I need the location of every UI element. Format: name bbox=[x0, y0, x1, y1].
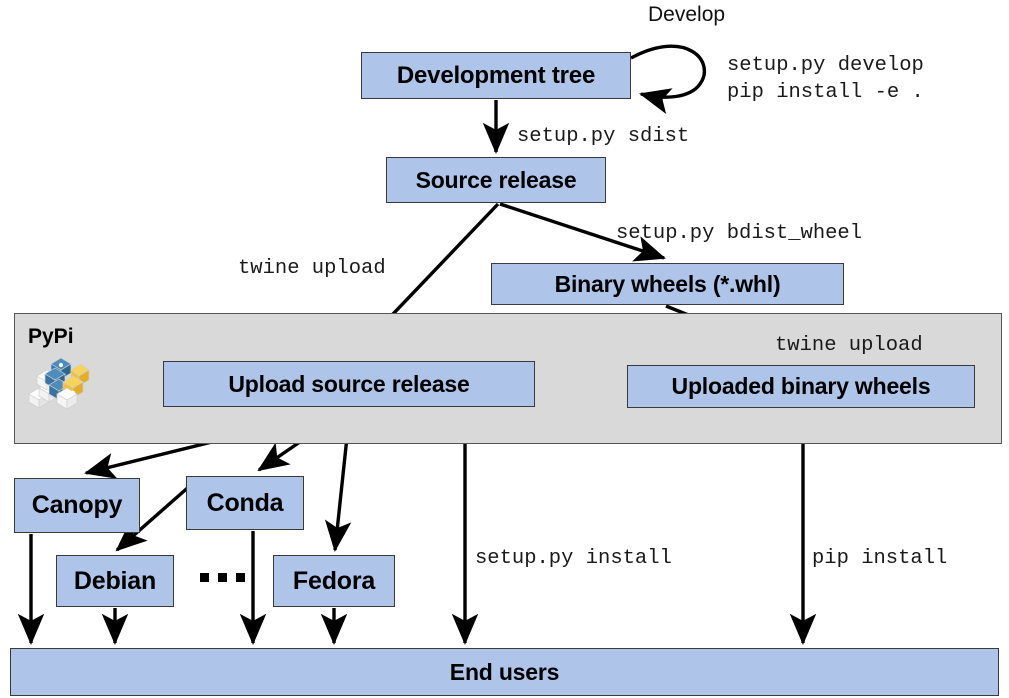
edge-label-twine-upload-wheels: twine upload bbox=[775, 332, 923, 359]
diagram-canvas: PyPi bbox=[0, 0, 1009, 698]
edge-label-pip-install: pip install bbox=[812, 545, 947, 572]
ellipsis-marker bbox=[200, 573, 245, 582]
node-binary-wheels[interactable]: Binary wheels (*.whl) bbox=[491, 263, 844, 305]
node-conda[interactable]: Conda bbox=[186, 476, 304, 530]
edge-label-twine-upload-source: twine upload bbox=[238, 255, 386, 282]
node-upload-source-release[interactable]: Upload source release bbox=[163, 361, 535, 407]
ellipsis-dot bbox=[236, 573, 245, 582]
edge-label-develop: Develop bbox=[648, 3, 725, 27]
pypi-region-label: PyPi bbox=[28, 325, 74, 349]
ellipsis-dot bbox=[218, 573, 227, 582]
node-fedora[interactable]: Fedora bbox=[273, 555, 395, 607]
node-canopy[interactable]: Canopy bbox=[14, 478, 140, 533]
node-uploaded-binary-wheels[interactable]: Uploaded binary wheels bbox=[627, 365, 975, 408]
edge-label-develop-commands: setup.py develop pip install -e . bbox=[727, 52, 924, 106]
node-end-users[interactable]: End users bbox=[10, 648, 999, 696]
node-development-tree[interactable]: Development tree bbox=[361, 52, 631, 99]
python-cubes-logo-icon bbox=[27, 354, 93, 412]
node-source-release[interactable]: Source release bbox=[386, 157, 606, 203]
edge-label-bdist-wheel: setup.py bdist_wheel bbox=[616, 220, 862, 247]
edge-label-setup-py-install: setup.py install bbox=[475, 545, 672, 572]
node-debian[interactable]: Debian bbox=[56, 555, 174, 607]
edge-develop-loop bbox=[631, 46, 704, 97]
edge-label-sdist: setup.py sdist bbox=[517, 123, 689, 150]
ellipsis-dot bbox=[200, 573, 209, 582]
